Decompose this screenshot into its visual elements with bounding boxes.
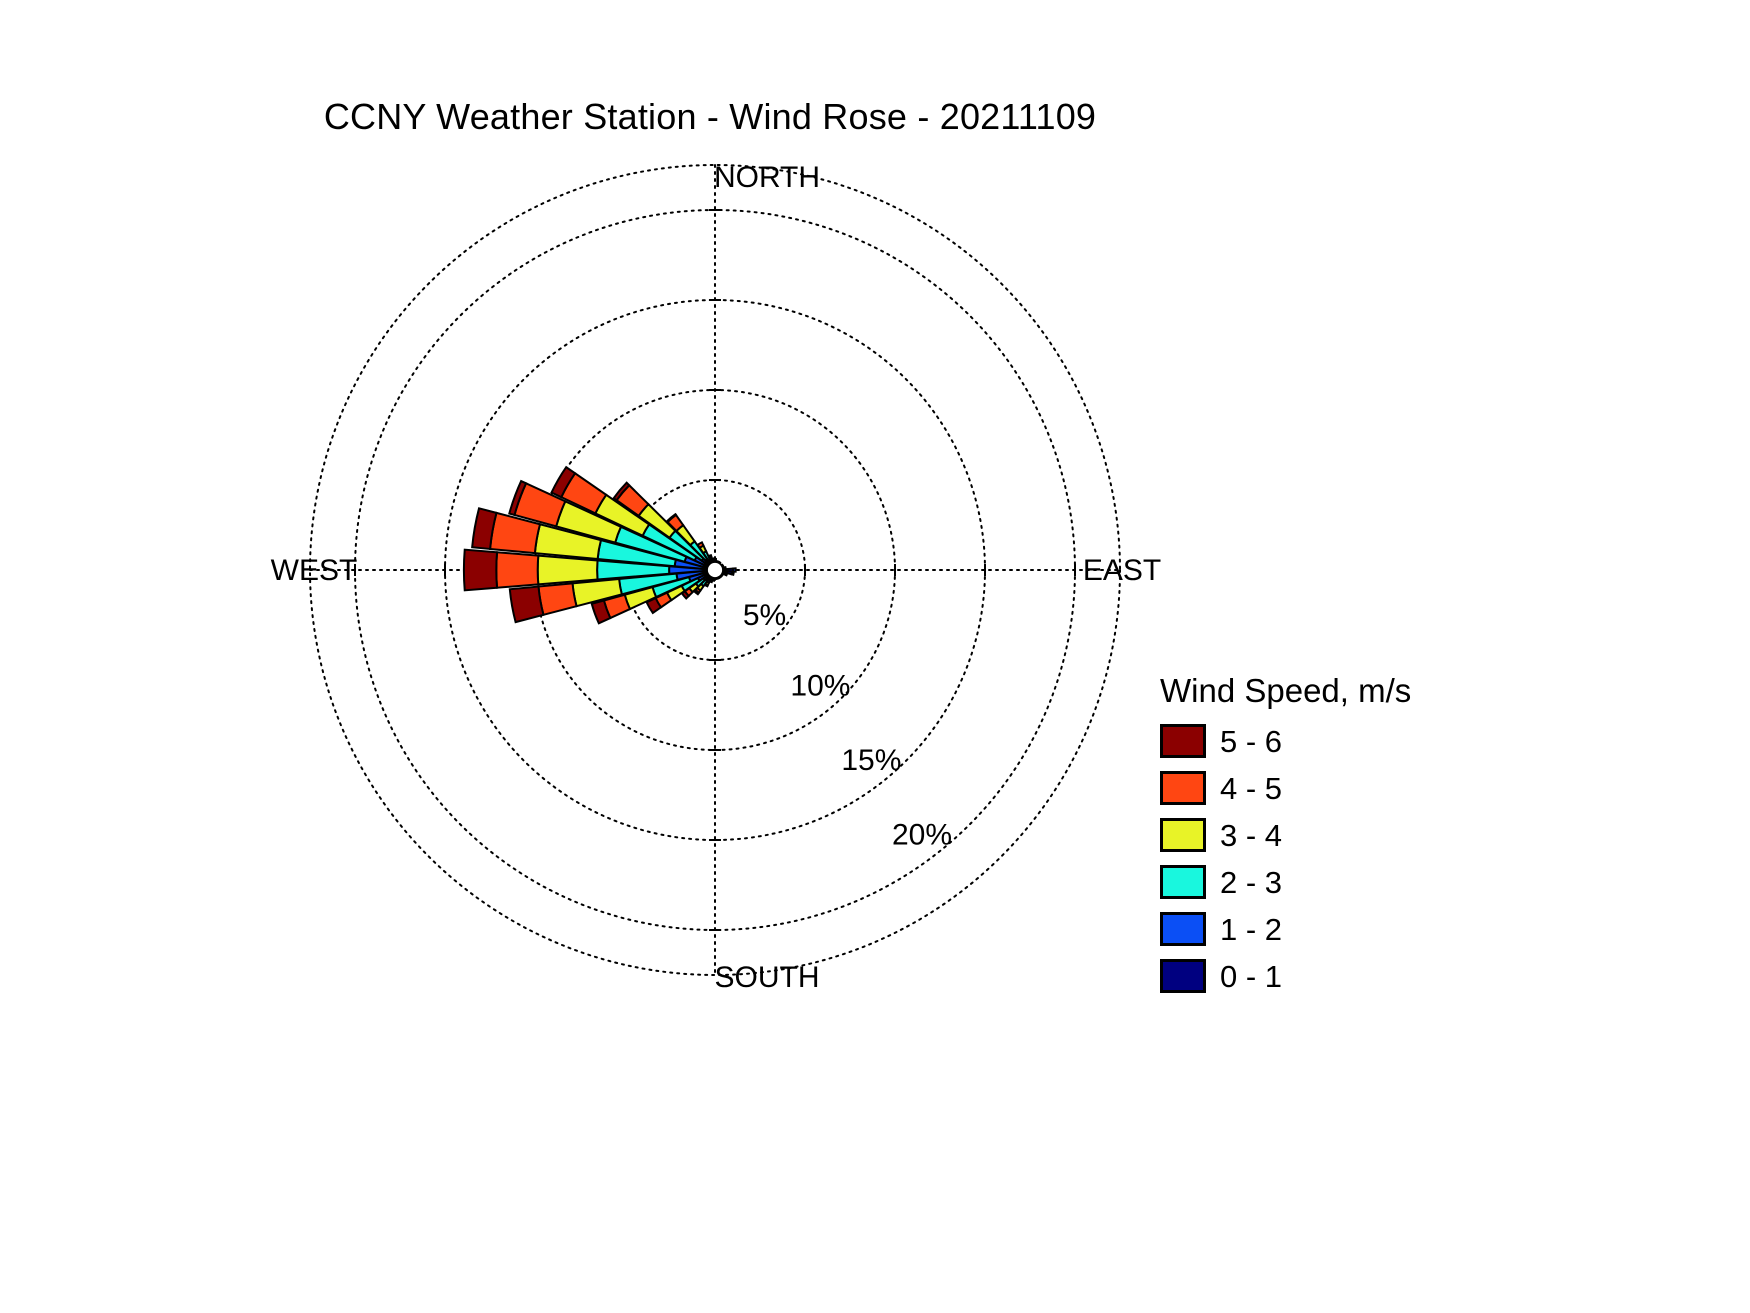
legend-item-0-1: 0 - 1 bbox=[1160, 959, 1580, 993]
rose-segment bbox=[712, 558, 714, 559]
compass-label-east: EAST bbox=[1083, 554, 1161, 587]
wind-rose-petals bbox=[464, 467, 736, 623]
legend-swatch-1 bbox=[1160, 771, 1206, 805]
legend-item-5-6: 5 - 6 bbox=[1160, 724, 1580, 758]
rose-segment bbox=[709, 555, 712, 557]
rose-segment bbox=[732, 572, 734, 575]
legend-swatch-3 bbox=[1160, 865, 1206, 899]
legend-rows: 5 - 64 - 53 - 42 - 31 - 20 - 1 bbox=[1160, 724, 1580, 993]
legend-swatch-2 bbox=[1160, 818, 1206, 852]
legend-label-4: 1 - 2 bbox=[1220, 914, 1282, 945]
calm-center-circle bbox=[707, 562, 723, 578]
legend-label-5: 0 - 1 bbox=[1220, 961, 1282, 992]
rose-segment bbox=[698, 542, 704, 547]
compass-label-south: SOUTH bbox=[715, 961, 820, 994]
radial-tick-label-10: 10% bbox=[790, 670, 850, 703]
legend-swatch-4 bbox=[1160, 912, 1206, 946]
rose-segment bbox=[464, 550, 497, 591]
legend-label-0: 5 - 6 bbox=[1220, 726, 1282, 757]
legend-swatch-5 bbox=[1160, 959, 1206, 993]
rose-segment bbox=[726, 573, 728, 575]
legend-label-1: 4 - 5 bbox=[1220, 773, 1282, 804]
radial-tick-label-20: 20% bbox=[892, 819, 952, 852]
rose-segment bbox=[496, 552, 538, 587]
legend-item-1-2: 1 - 2 bbox=[1160, 912, 1580, 946]
legend-label-2: 3 - 4 bbox=[1220, 820, 1282, 851]
rose-segment bbox=[538, 556, 598, 585]
legend-item-3-4: 3 - 4 bbox=[1160, 818, 1580, 852]
calm-circle bbox=[707, 562, 723, 578]
legend-label-3: 2 - 3 bbox=[1220, 867, 1282, 898]
radial-tick-label-15: 15% bbox=[841, 744, 901, 777]
legend: Wind Speed, m/s 5 - 64 - 53 - 42 - 31 - … bbox=[1160, 672, 1580, 1006]
rose-segment bbox=[510, 587, 544, 623]
compass-label-north: NORTH bbox=[714, 161, 820, 194]
rose-segment bbox=[538, 583, 576, 614]
legend-item-4-5: 4 - 5 bbox=[1160, 771, 1580, 805]
radial-tick-label-5: 5% bbox=[743, 599, 786, 632]
wind-rose-chart: NORTHEASTSOUTHWEST5%10%15%20% bbox=[0, 0, 1750, 1313]
compass-label-west: WEST bbox=[271, 554, 358, 587]
legend-item-2-3: 2 - 3 bbox=[1160, 865, 1580, 899]
legend-title: Wind Speed, m/s bbox=[1160, 672, 1580, 710]
legend-swatch-0 bbox=[1160, 724, 1206, 758]
